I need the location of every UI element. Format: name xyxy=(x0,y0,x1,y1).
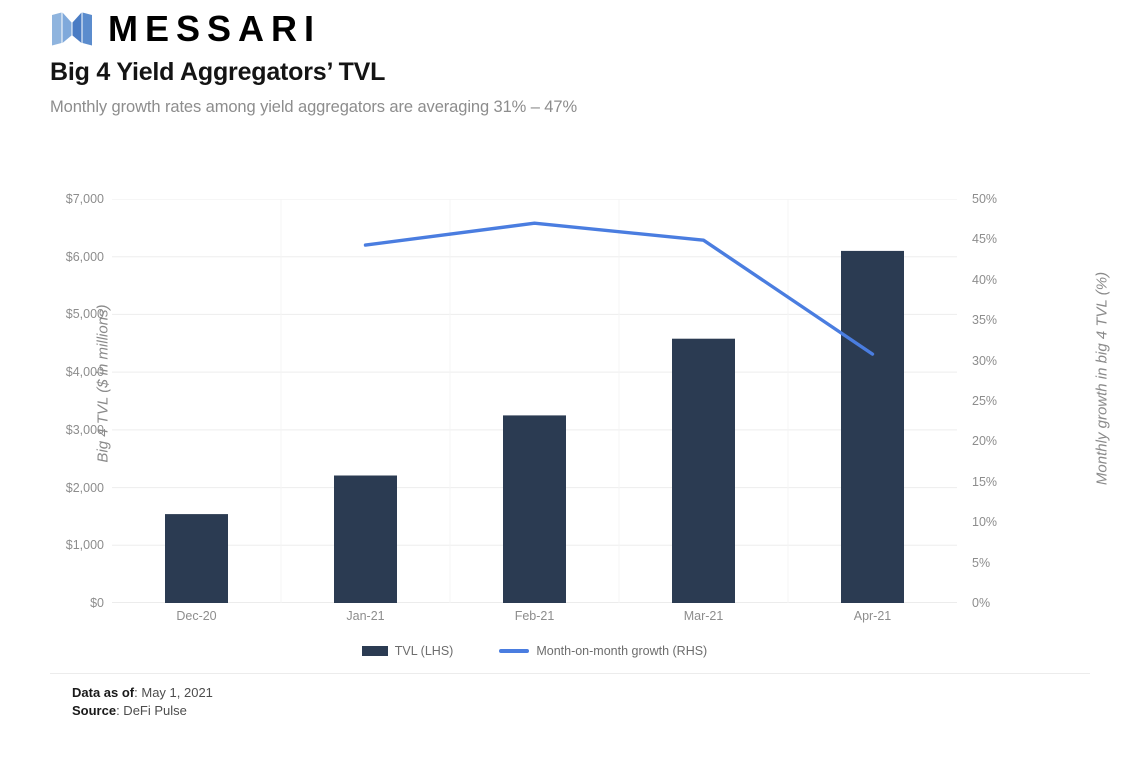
left-tick-label: $0 xyxy=(90,595,104,611)
x-tick-label: Dec-20 xyxy=(137,609,257,623)
card-bottom-rule xyxy=(50,673,1090,674)
x-tick-label: Mar-21 xyxy=(644,609,764,623)
right-tick-label: 30% xyxy=(972,353,997,369)
chart-legend: TVL (LHS)Month-on-month growth (RHS) xyxy=(112,644,957,658)
right-tick-label: 15% xyxy=(972,474,997,490)
data-as-of-line: Data as of: May 1, 2021 xyxy=(72,684,213,702)
chart-footnotes: Data as of: May 1, 2021 Source: DeFi Pul… xyxy=(72,684,213,719)
messari-wordmark: MESSARI xyxy=(108,12,321,46)
left-tick-label: $7,000 xyxy=(66,191,104,207)
x-tick-label: Feb-21 xyxy=(475,609,595,623)
right-tick-label: 40% xyxy=(972,272,997,288)
x-tick-label: Apr-21 xyxy=(813,609,933,623)
page-title: Big 4 Yield Aggregators’ TVL xyxy=(50,58,1090,87)
right-tick-label: 20% xyxy=(972,433,997,449)
source-label: Source xyxy=(72,703,116,718)
left-tick-label: $4,000 xyxy=(66,364,104,380)
legend-item[interactable]: Month-on-month growth (RHS) xyxy=(499,644,707,658)
right-tick-label: 10% xyxy=(972,514,997,530)
right-tick-label: 0% xyxy=(972,595,990,611)
data-as-of-label: Data as of xyxy=(72,685,134,700)
right-tick-label: 25% xyxy=(972,393,997,409)
source-value: : DeFi Pulse xyxy=(116,703,187,718)
right-tick-label: 5% xyxy=(972,555,990,571)
plot-svg xyxy=(112,199,957,603)
right-tick-label: 50% xyxy=(972,191,997,207)
bar xyxy=(165,514,228,603)
brand-lockup: MESSARI xyxy=(50,8,1090,50)
bar xyxy=(841,251,904,603)
left-tick-label: $3,000 xyxy=(66,422,104,438)
legend-line-swatch-icon xyxy=(499,649,529,653)
right-axis-tick-labels: 50%45%40%35%30%25%20%15%10%5%0% xyxy=(958,160,1018,603)
x-tick-label: Jan-21 xyxy=(306,609,426,623)
left-tick-label: $6,000 xyxy=(66,249,104,265)
left-tick-label: $2,000 xyxy=(66,480,104,496)
right-tick-label: 35% xyxy=(972,312,997,328)
chart-container: Big 4 TVL ($ in millions) Monthly growth… xyxy=(50,160,1090,680)
report-header: MESSARI Big 4 Yield Aggregators’ TVL Mon… xyxy=(50,8,1090,117)
legend-label: TVL (LHS) xyxy=(395,644,454,658)
legend-label: Month-on-month growth (RHS) xyxy=(536,644,707,658)
left-tick-label: $1,000 xyxy=(66,537,104,553)
messari-m-logo-icon xyxy=(50,12,94,46)
left-axis-tick-labels: $7,000$6,000$5,000$4,000$3,000$2,000$1,0… xyxy=(50,160,112,603)
bar xyxy=(503,415,566,603)
page-subtitle: Monthly growth rates among yield aggrega… xyxy=(50,98,1090,117)
x-axis-tick-labels: Dec-20Jan-21Feb-21Mar-21Apr-21 xyxy=(112,609,957,629)
left-tick-label: $5,000 xyxy=(66,306,104,322)
plot-area xyxy=(112,199,957,603)
right-axis-title: Monthly growth in big 4 TVL (%) xyxy=(1094,239,1111,519)
bar xyxy=(672,339,735,603)
bar xyxy=(334,476,397,604)
legend-bar-swatch-icon xyxy=(362,646,388,656)
source-line: Source: DeFi Pulse xyxy=(72,702,213,720)
bar-series xyxy=(165,251,904,603)
legend-item[interactable]: TVL (LHS) xyxy=(362,644,454,658)
data-as-of-value: : May 1, 2021 xyxy=(134,685,213,700)
right-tick-label: 45% xyxy=(972,231,997,247)
